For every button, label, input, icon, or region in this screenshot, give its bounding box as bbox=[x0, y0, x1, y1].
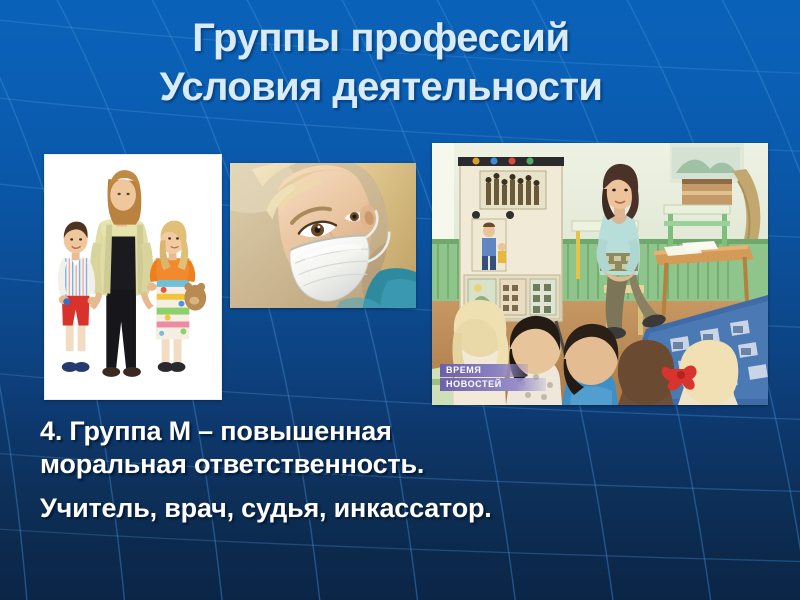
title-line-1: Группы профессий bbox=[0, 14, 762, 63]
body-line-1: 4. Группа М – повышенная bbox=[40, 415, 780, 448]
news-overlay-line-1: ВРЕМЯ bbox=[440, 364, 528, 377]
photo-nurse bbox=[230, 163, 416, 308]
news-overlay: ВРЕМЯ НОВОСТЕЙ bbox=[440, 364, 544, 391]
body-line-3: Учитель, врач, судья, инкассатор. bbox=[40, 492, 780, 525]
slide-title: Группы профессий Условия деятельности bbox=[0, 14, 800, 112]
presentation-slide: Группы профессий Условия деятельности bbox=[0, 0, 800, 600]
photo-family bbox=[44, 154, 222, 400]
title-line-2: Условия деятельности bbox=[0, 63, 762, 112]
body-line-2: моральная ответственность. bbox=[40, 448, 780, 481]
photo-classroom: ВРЕМЯ НОВОСТЕЙ bbox=[432, 143, 768, 405]
news-overlay-line-2: НОВОСТЕЙ bbox=[440, 378, 546, 391]
slide-body: 4. Группа М – повышенная моральная ответ… bbox=[40, 415, 780, 525]
